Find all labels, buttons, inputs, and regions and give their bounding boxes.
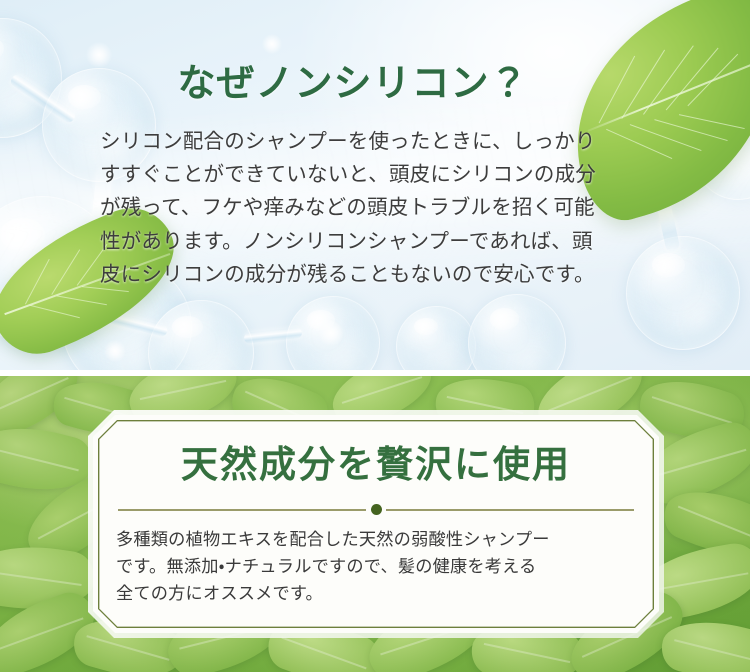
why-non-silicone-section: なぜノンシリコン？ シリコン配合のシャンプーを使ったときに、しっかり すすぐこと… (0, 0, 750, 370)
molecule-bubble-icon (396, 306, 476, 370)
leaf-vein (30, 305, 80, 318)
divider-line-right (386, 509, 634, 511)
sparkle-icon (318, 320, 344, 346)
leaf-vein (679, 114, 745, 129)
body-line: すすぐことができていないと、頭皮にシリコンの成分 (100, 158, 680, 191)
product-description-page: なぜノンシリコン？ シリコン配合のシャンプーを使ったときに、しっかり すすぐこと… (0, 0, 750, 672)
ornament-divider (118, 504, 634, 514)
body-line: 性があります。ノンシリコンシャンプーであれば、頭 (100, 225, 680, 258)
card-content: 天然成分を贅沢に使用 多種類の植物エキスを配合した天然の弱酸性シャンプー です。… (116, 434, 636, 606)
sparkle-icon (104, 340, 126, 362)
natural-ingredients-body: 多種類の植物エキスを配合した天然の弱酸性シャンプー です。無添加・ナチュラルです… (116, 526, 636, 606)
body-line: です。無添加・ナチュラルですので、髪の健康を考える (116, 553, 636, 580)
natural-ingredients-title: 天然成分を贅沢に使用 (116, 434, 636, 488)
divider-line-left (118, 509, 366, 511)
natural-ingredients-section: 天然成分を贅沢に使用 多種類の植物エキスを配合した天然の弱酸性シャンプー です。… (0, 376, 750, 672)
leaf-vein (56, 296, 106, 306)
natural-ingredients-card: 天然成分を贅沢に使用 多種類の植物エキスを配合した天然の弱酸性シャンプー です。… (88, 410, 664, 638)
why-non-silicone-title: なぜノンシリコン？ (100, 52, 680, 107)
body-line: 皮にシリコンの成分が残ることもないので安心です。 (100, 258, 680, 291)
sparkle-icon (262, 34, 282, 54)
leaf-vein (687, 54, 738, 107)
body-line: シリコン配合のシャンプーを使ったときに、しっかり (100, 125, 680, 158)
divider-dot-icon (371, 504, 382, 515)
body-line: が残って、フケや痒みなどの頭皮トラブルを招く可能 (100, 191, 680, 224)
why-non-silicone-copy: なぜノンシリコン？ シリコン配合のシャンプーを使ったときに、しっかり すすぐこと… (100, 52, 680, 291)
body-line: 多種類の植物エキスを配合した天然の弱酸性シャンプー (116, 526, 636, 553)
why-non-silicone-body: シリコン配合のシャンプーを使ったときに、しっかり すすぐことができていないと、頭… (100, 125, 680, 291)
molecule-bubble-icon (468, 294, 566, 370)
body-line: 全ての方にオススメです。 (116, 580, 636, 607)
